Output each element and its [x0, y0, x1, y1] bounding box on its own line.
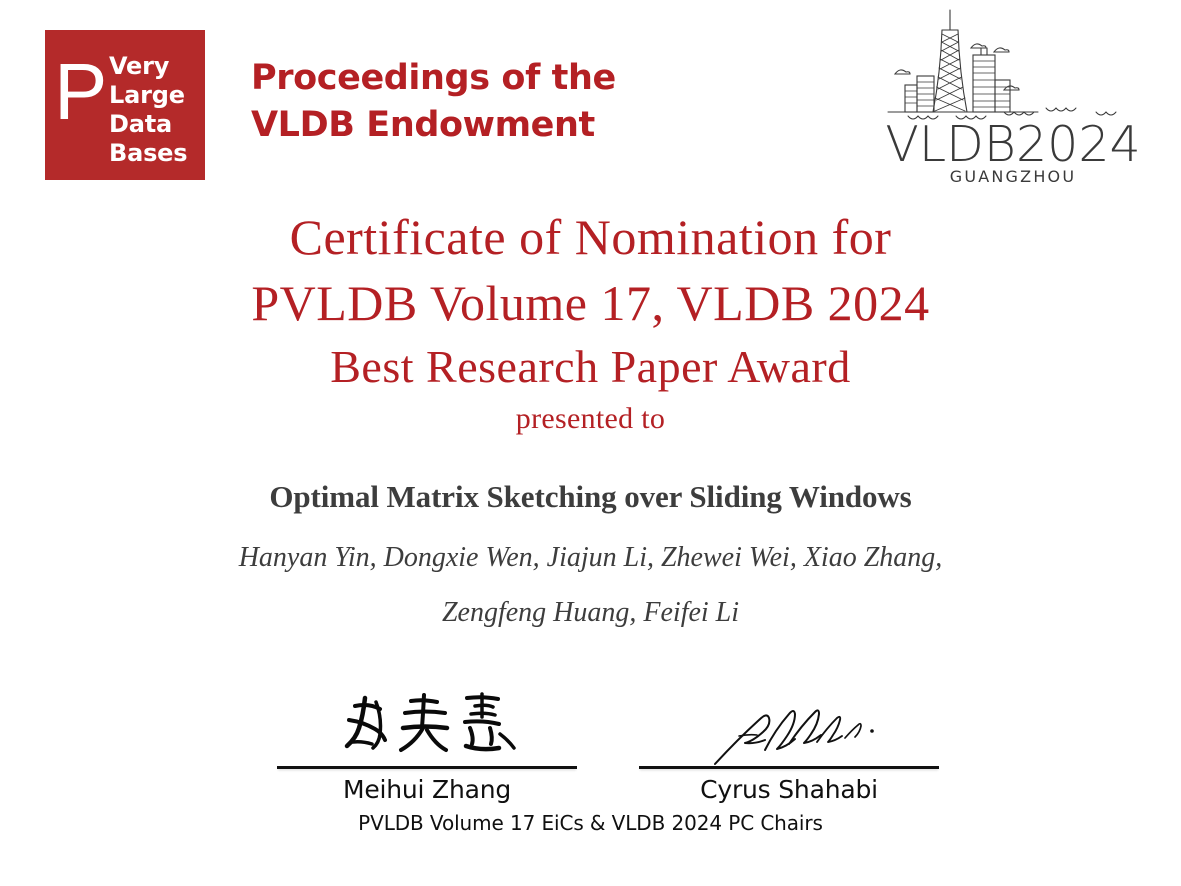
signature-rule-left: [277, 766, 577, 769]
vldb2024-guangzhou-logo-icon: VLDB2024 GUANGZHOU: [878, 8, 1148, 188]
presented-to-label: presented to: [0, 398, 1181, 440]
certificate-title-line-2: PVLDB Volume 17, VLDB 2024: [0, 270, 1181, 336]
certificate-title-line-1: Certificate of Nomination for: [0, 204, 1181, 270]
recipient-block: Optimal Matrix Sketching over Sliding Wi…: [0, 476, 1181, 640]
signatory-name-right: Cyrus Shahabi: [639, 774, 939, 806]
certificate-header: P Very Large Data Bases Proceedings of t…: [0, 0, 1181, 200]
paper-title: Optimal Matrix Sketching over Sliding Wi…: [0, 476, 1181, 518]
signature-column-right: Cyrus Shahabi: [639, 684, 939, 806]
proceedings-wordmark-line-2: VLDB Endowment: [251, 102, 616, 149]
vldb2024-wordmark: VLDB2024: [878, 120, 1148, 170]
vldb2024-city-label: GUANGZHOU: [878, 168, 1148, 186]
signatory-name-left: Meihui Zhang: [277, 774, 577, 806]
author-line-1: Hanyan Yin, Dongxie Wen, Jiajun Li, Zhew…: [0, 530, 1181, 585]
guangzhou-skyline-icon: [878, 8, 1148, 123]
handwritten-signature-cursive-icon: [639, 684, 939, 766]
signatory-roles-footer: PVLDB Volume 17 EiCs & VLDB 2024 PC Chai…: [0, 810, 1181, 837]
signature-column-left: Meihui Zhang: [277, 684, 577, 806]
pvldb-logo-line-1: Very: [109, 52, 201, 81]
author-line-2: Zengfeng Huang, Feifei Li: [0, 585, 1181, 640]
proceedings-wordmark-line-1: Proceedings of the: [251, 55, 616, 102]
certificate-title-block: Certificate of Nomination for PVLDB Volu…: [0, 204, 1181, 440]
proceedings-wordmark: Proceedings of the VLDB Endowment: [251, 55, 616, 149]
signature-rule-right: [639, 766, 939, 769]
pvldb-logo-line-4: Bases: [109, 139, 201, 168]
pvldb-logo-stack: Very Large Data Bases: [109, 52, 201, 168]
certificate-title-line-3: Best Research Paper Award: [0, 336, 1181, 398]
signature-block: Meihui Zhang Cyrus Shahabi: [0, 684, 1181, 814]
pvldb-logo-letter: P: [54, 52, 107, 132]
pvldb-logo-line-2: Large: [109, 81, 201, 110]
pvldb-logo-icon: P Very Large Data Bases: [45, 30, 205, 180]
pvldb-logo-line-3: Data: [109, 110, 201, 139]
author-list: Hanyan Yin, Dongxie Wen, Jiajun Li, Zhew…: [0, 530, 1181, 640]
handwritten-signature-cjk-icon: [277, 684, 577, 766]
